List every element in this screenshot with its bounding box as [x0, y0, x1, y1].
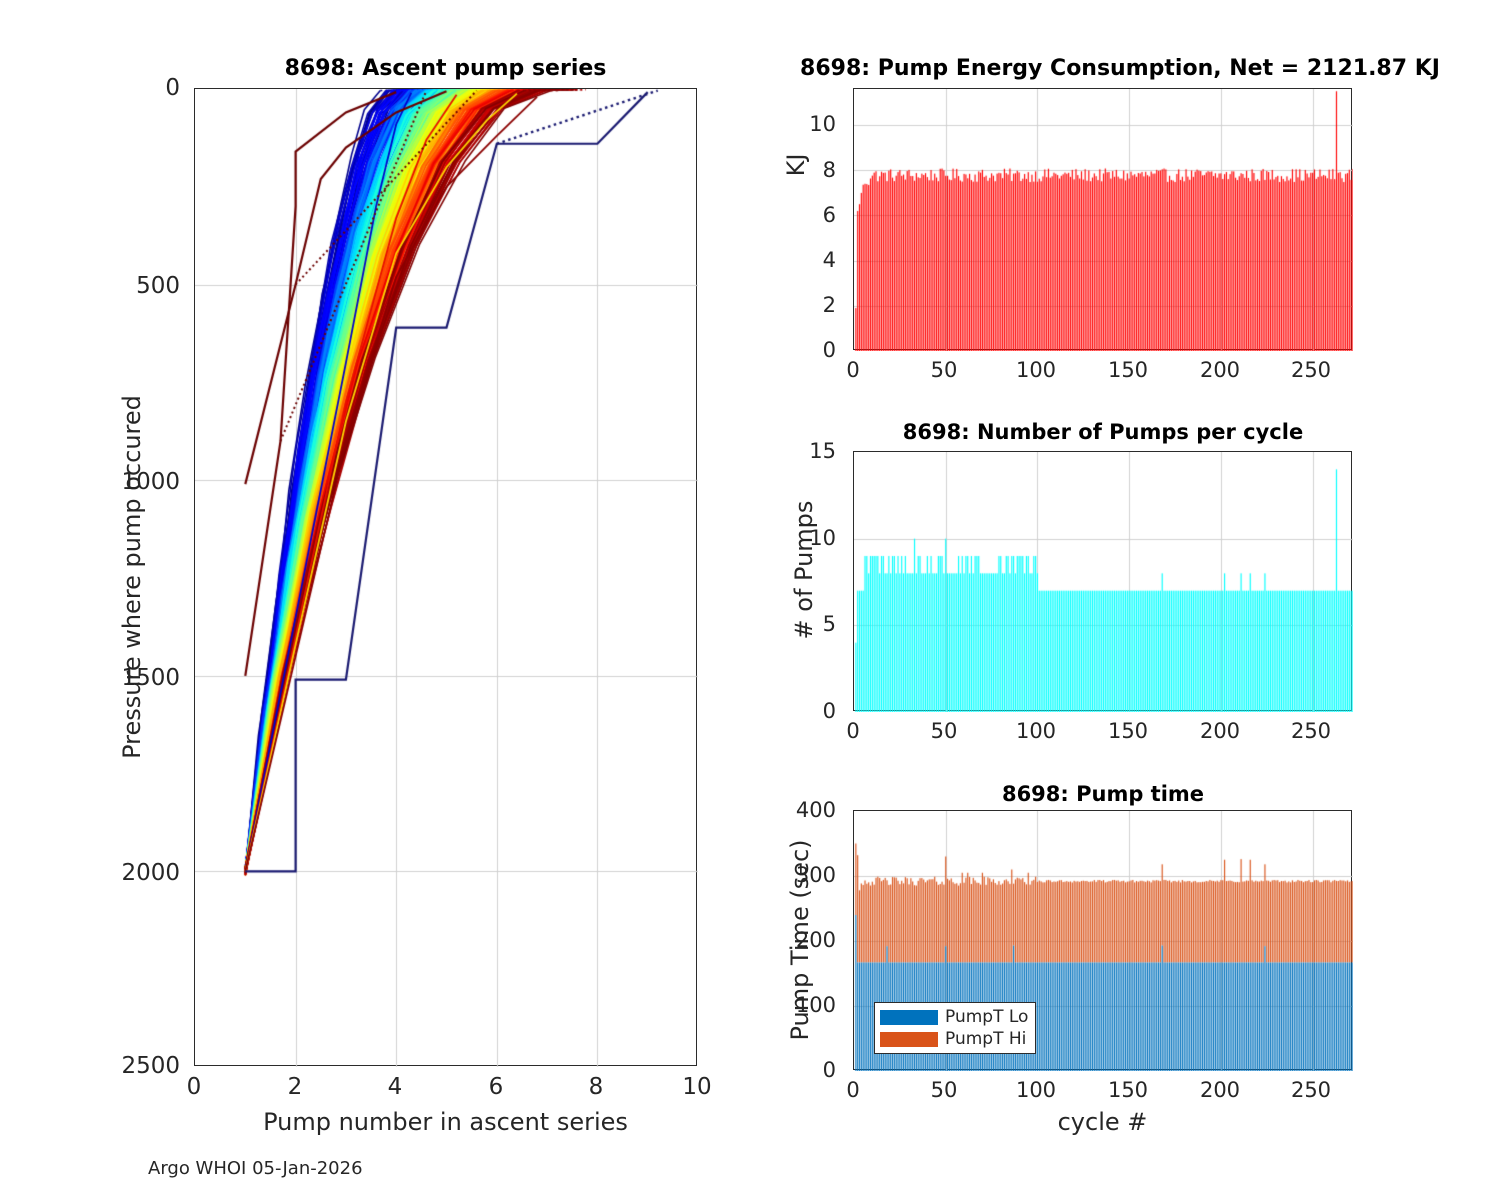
- ascent-xtick-0: 0: [187, 1074, 202, 1100]
- energy-xtick-100: 100: [1016, 358, 1056, 382]
- pumps-xtick-250: 250: [1291, 719, 1331, 743]
- pumps-xtick-50: 50: [931, 719, 958, 743]
- ascent-xtick-2: 2: [288, 1074, 303, 1100]
- pumptime-yaxis-label: Pump Time (sec): [786, 810, 814, 1070]
- energy-xtick-50: 50: [931, 358, 958, 382]
- energy-xtick-250: 250: [1291, 358, 1331, 382]
- ascent-xtick-6: 6: [489, 1074, 504, 1100]
- pumps-xtick-0: 0: [846, 719, 859, 743]
- energy-xtick-200: 200: [1200, 358, 1240, 382]
- pumps-ytick-0: 0: [782, 699, 836, 723]
- energy-xtick-0: 0: [846, 358, 859, 382]
- energy-ytick-0: 0: [782, 338, 836, 362]
- ascent-plot-axes: [194, 88, 697, 1066]
- legend-swatch-pumpt-lo: [880, 1010, 938, 1025]
- pumptime-xtick-100: 100: [1016, 1078, 1056, 1102]
- ascent-xtick-10: 10: [682, 1074, 711, 1100]
- pumptime-panel-title: 8698: Pump time: [853, 782, 1353, 806]
- pumps-yaxis-label: # of Pumps: [790, 440, 818, 700]
- legend-swatch-pumpt-hi: [880, 1032, 938, 1047]
- pumptime-legend[interactable]: PumpT Lo PumpT Hi: [874, 1002, 1036, 1054]
- pumptime-xtick-0: 0: [846, 1078, 859, 1102]
- ascent-panel-title: 8698: Ascent pump series: [194, 56, 697, 81]
- ascent-xtick-8: 8: [589, 1074, 604, 1100]
- pumps-xtick-150: 150: [1108, 719, 1148, 743]
- pumps-xtick-200: 200: [1200, 719, 1240, 743]
- pumps-bars-canvas: [854, 452, 1353, 712]
- figure-footer-stamp: Argo WHOI 05-Jan-2026: [148, 1158, 363, 1179]
- pumptime-xtick-250: 250: [1291, 1078, 1331, 1102]
- argo-pump-diagnostics-figure: 8698: Ascent pump series 0 500 1000 1500…: [0, 0, 1500, 1200]
- ascent-yaxis-label: Pressure where pump occured: [118, 88, 146, 1066]
- pumps-xtick-100: 100: [1016, 719, 1056, 743]
- energy-bars-canvas: [854, 89, 1353, 351]
- energy-yaxis-label: KJ: [782, 65, 810, 265]
- pumptime-xaxis-label: cycle #: [853, 1108, 1352, 1136]
- pumptime-xtick-50: 50: [931, 1078, 958, 1102]
- energy-ytick-2: 2: [782, 293, 836, 317]
- pumps-plot-axes: [853, 451, 1352, 711]
- energy-xtick-150: 150: [1108, 358, 1148, 382]
- pumptime-xtick-150: 150: [1108, 1078, 1148, 1102]
- legend-label-pumpt-lo: PumpT Lo: [945, 1007, 1028, 1027]
- legend-item-pumpt-lo[interactable]: PumpT Lo: [880, 1007, 1030, 1028]
- energy-panel-title: 8698: Pump Energy Consumption, Net = 212…: [750, 56, 1490, 81]
- legend-label-pumpt-hi: PumpT Hi: [945, 1029, 1026, 1049]
- pumps-panel-title: 8698: Number of Pumps per cycle: [853, 420, 1353, 444]
- ascent-xaxis-label: Pump number in ascent series: [194, 1108, 697, 1136]
- legend-item-pumpt-hi[interactable]: PumpT Hi: [880, 1029, 1030, 1050]
- pumptime-xtick-200: 200: [1200, 1078, 1240, 1102]
- ascent-series-canvas: [195, 89, 698, 1067]
- ascent-xtick-4: 4: [388, 1074, 403, 1100]
- energy-plot-axes: [853, 88, 1352, 350]
